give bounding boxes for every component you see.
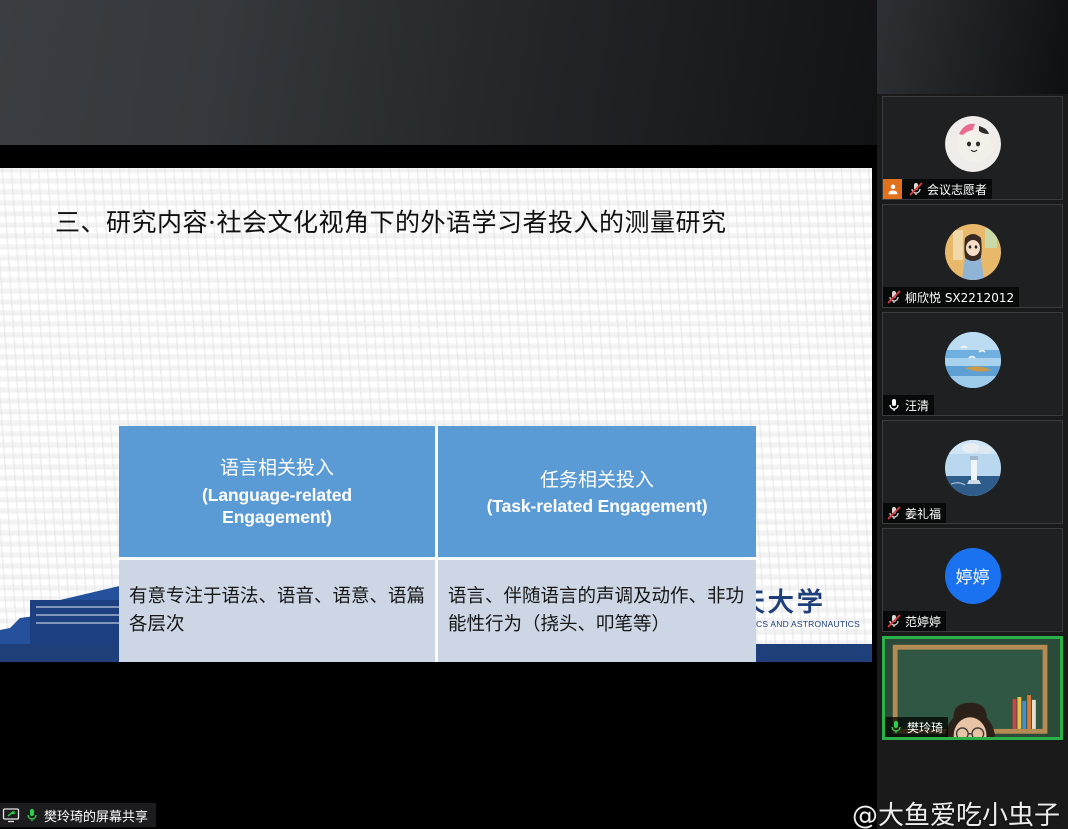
mic-muted-icon (886, 613, 902, 629)
zoom-meeting-window: 南京航空航天大学 NANJING UNIVERSITY OF AERONAUTI… (0, 0, 1068, 829)
header-en-task-line1: (Task-related Engagement) (487, 495, 708, 517)
mic-muted-icon (908, 181, 924, 197)
participant-tile-4[interactable]: 姜礼福 (882, 420, 1063, 524)
mic-on-icon (886, 397, 902, 413)
name-bar: 范婷婷 (883, 611, 946, 631)
letterbox-top (0, 145, 877, 168)
screen-share-label: 樊玲琦的屏幕共享 (44, 806, 148, 825)
table-body-cell-task: 语言、伴随语言的声调及动作、非功能性行为（挠头、叩笔等） (438, 560, 756, 662)
name-bar: 姜礼福 (883, 503, 946, 523)
avatar (945, 224, 1001, 280)
avatar (945, 440, 1001, 496)
participant-name: 汪清 (905, 397, 929, 414)
host-badge-icon (883, 179, 902, 199)
slide-title: 三、研究内容·社会文化视角下的外语学习者投入的测量研究 (55, 203, 855, 239)
presentation-slide: 南京航空航天大学 NANJING UNIVERSITY OF AERONAUTI… (0, 168, 872, 662)
mic-speaking-icon (888, 719, 904, 735)
participant-name: 姜礼福 (905, 505, 941, 522)
participant-tile-2[interactable]: 柳欣悦 SX2212012 (882, 204, 1063, 308)
watermark: @大鱼爱吃小虫子 (852, 795, 1060, 829)
screen-share-icon (2, 806, 20, 824)
participant-tile-5[interactable]: 婷婷 范婷婷 (882, 528, 1063, 632)
engagement-table: 语言相关投入 (Language-related Engagement) 任务相… (119, 426, 756, 662)
header-cn-language: 语言相关投入 (220, 454, 334, 483)
table-body-cell-language: 有意专注于语法、语音、语意、语篇各层次 (119, 560, 438, 662)
desktop-background-top (0, 0, 877, 145)
participant-tile-6-active-speaker[interactable]: 樊玲琦 (882, 636, 1063, 740)
header-cn-task: 任务相关投入 (540, 466, 654, 495)
participant-name: 柳欣悦 SX2212012 (905, 289, 1014, 306)
header-en-language-line1: (Language-related (202, 484, 352, 506)
avatar (945, 116, 1001, 172)
mic-on-icon (24, 807, 40, 823)
mic-muted-icon (886, 289, 902, 305)
table-header-cell-task: 任务相关投入 (Task-related Engagement) (438, 426, 756, 560)
avatar-initials: 婷婷 (945, 548, 1001, 604)
participant-tile-3[interactable]: 汪清 (882, 312, 1063, 416)
table-header-row: 语言相关投入 (Language-related Engagement) 任务相… (119, 426, 756, 560)
name-bar: 汪清 (883, 395, 934, 415)
name-bar: 樊玲琦 (885, 717, 948, 737)
shared-screen-area: 南京航空航天大学 NANJING UNIVERSITY OF AERONAUTI… (0, 0, 877, 829)
screen-share-status-bar: 樊玲琦的屏幕共享 (0, 803, 156, 827)
participant-video-panel: 会议志愿者 (877, 0, 1068, 829)
name-bar: 会议志愿者 (883, 179, 992, 199)
table-body-row: 有意专注于语法、语音、语意、语篇各层次 语言、伴随语言的声调及动作、非功能性行为… (119, 560, 756, 662)
name-bar: 柳欣悦 SX2212012 (883, 287, 1019, 307)
participant-name: 樊玲琦 (907, 719, 943, 736)
participant-name: 范婷婷 (905, 613, 941, 630)
avatar (945, 332, 1001, 388)
participant-name: 会议志愿者 (927, 181, 987, 198)
table-header-cell-language: 语言相关投入 (Language-related Engagement) (119, 426, 438, 560)
panel-top-background (877, 0, 1068, 94)
participant-tile-1[interactable]: 会议志愿者 (882, 96, 1063, 200)
mic-muted-icon (886, 505, 902, 521)
header-en-language-line2: Engagement) (222, 506, 332, 528)
